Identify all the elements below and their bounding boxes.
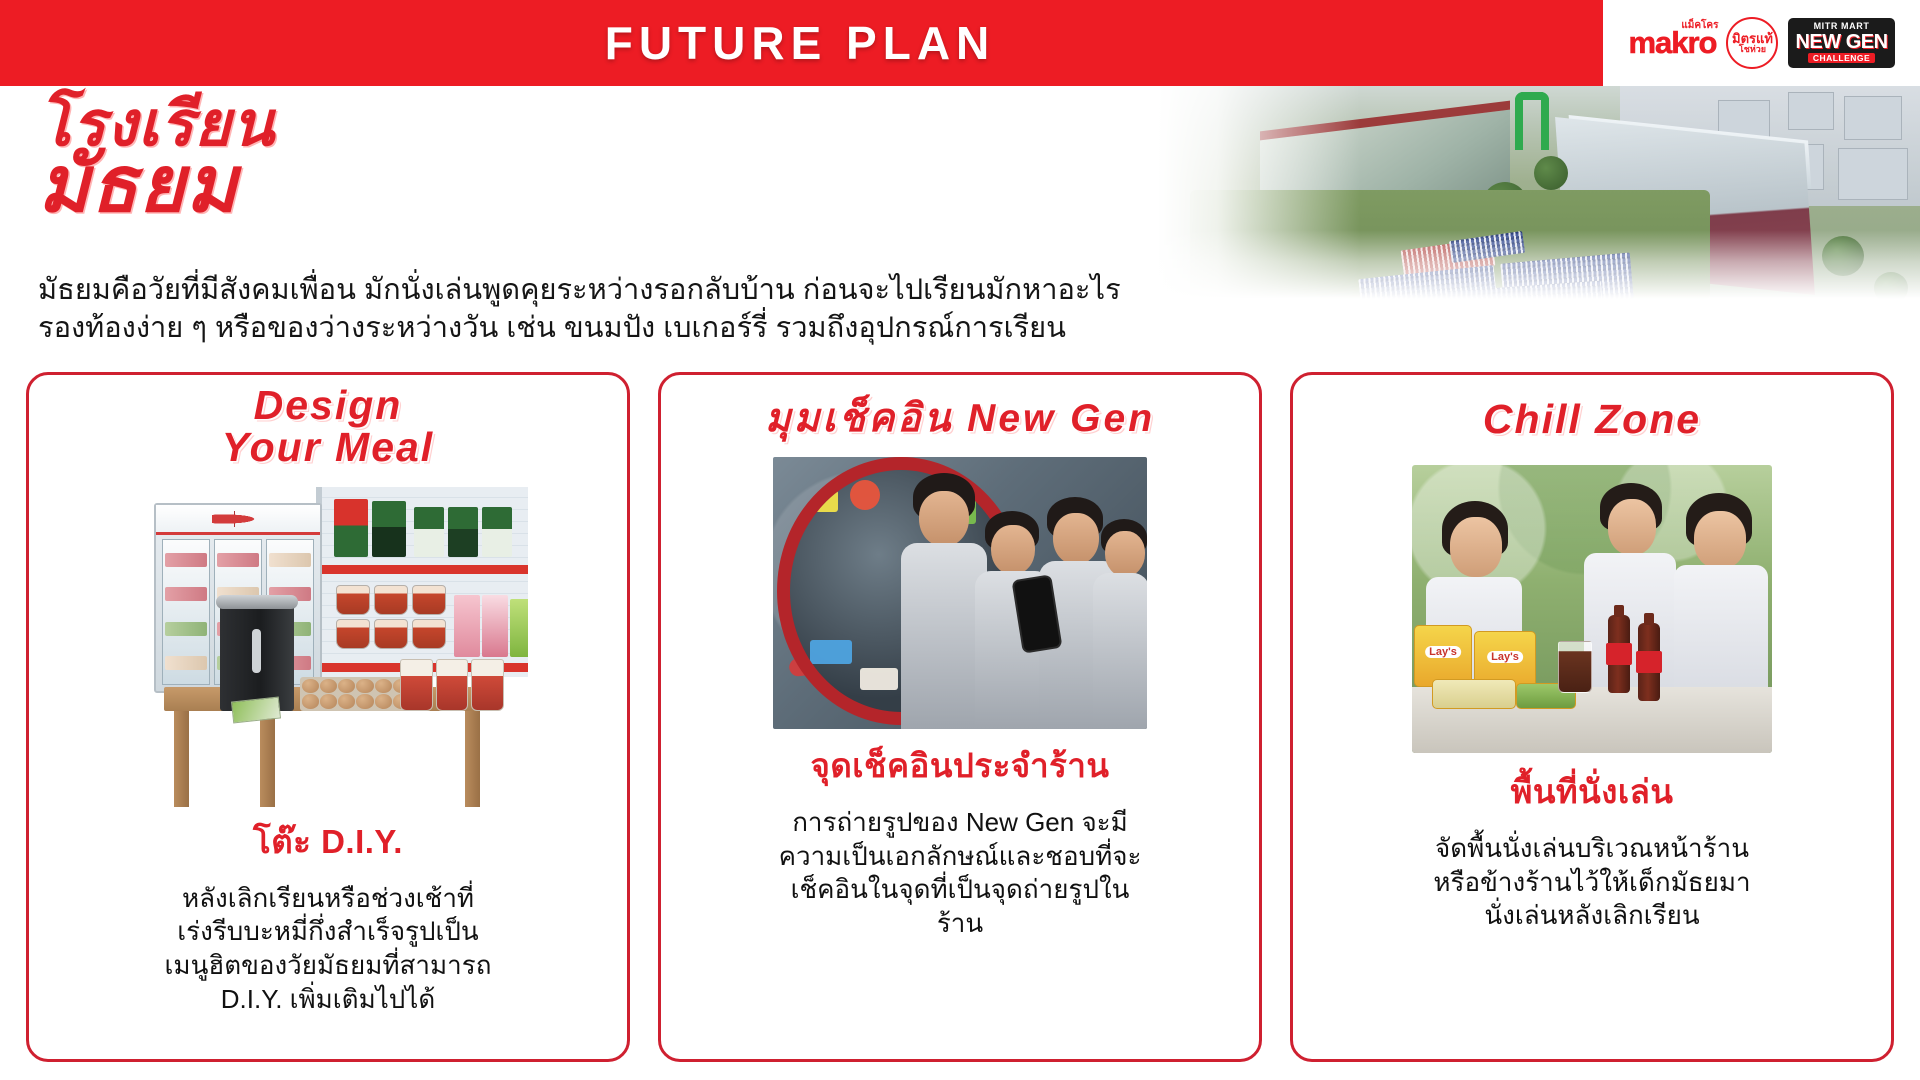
headline-line2: มัธยม: [38, 149, 275, 221]
ngc-bottom-label: CHALLENGE: [1808, 53, 1875, 64]
card-3-subtitle: พื้นที่นั่งเล่น: [1511, 765, 1674, 818]
ngc-top-label: MITR MART: [1814, 22, 1870, 31]
chips-brand-label-2: Lay's: [1487, 651, 1523, 663]
card-checkin-corner[interactable]: มุมเช็คอิน New Gen: [658, 372, 1262, 1062]
card-3-title: Chill Zone: [1483, 399, 1701, 441]
new-gen-challenge-badge: MITR MART NEW GEN CHALLENGE: [1788, 18, 1894, 69]
page-title: FUTURE PLAN: [0, 0, 1600, 86]
top-banner: FUTURE PLAN makro แม็คโคร มิตรแท้ โชห่วย…: [0, 0, 1920, 86]
card-row: Design Your Meal: [26, 372, 1894, 1062]
diy-noodle-table-photo: [128, 477, 528, 807]
lead-paragraph: มัธยมคือวัยที่มีสังคมเพื่อน มักนั่งเล่นพ…: [38, 272, 1378, 347]
card-design-your-meal[interactable]: Design Your Meal: [26, 372, 630, 1062]
aerial-school-assembly-photo: [1130, 86, 1920, 300]
seal-line2: โชห่วย: [1739, 45, 1766, 54]
makro-logo: makro แม็คโคร: [1628, 29, 1716, 57]
card-1-body: หลังเลิกเรียนหรือช่วงเช้าที่ เร่งรีบบะหม…: [165, 882, 492, 1017]
chips-brand-label: Lay's: [1425, 646, 1461, 658]
card-chill-zone[interactable]: Chill Zone: [1290, 372, 1894, 1062]
card-1-title: Design Your Meal: [222, 385, 434, 469]
headline: โรงเรียน มัธยม: [38, 96, 275, 221]
lead-line1: มัธยมคือวัยที่มีสังคมเพื่อน มักนั่งเล่นพ…: [38, 272, 1378, 310]
graffiti-mirror-selfie-photo: [773, 457, 1147, 729]
makro-thai-subtitle: แม็คโคร: [1681, 18, 1718, 33]
ngc-mid-label: NEW GEN: [1795, 32, 1887, 52]
card-2-body: การถ่ายรูปของ New Gen จะมี ความเป็นเอกลั…: [779, 806, 1142, 941]
card-2-subtitle: จุดเช็คอินประจำร้าน: [811, 739, 1110, 792]
card-2-title: มุมเช็คอิน New Gen: [765, 399, 1155, 439]
mitrtae-seal-icon: มิตรแท้ โชห่วย: [1726, 17, 1778, 69]
students-snacks-outdoor-photo: Lay's Lay's: [1412, 465, 1772, 753]
logo-plate: makro แม็คโคร มิตรแท้ โชห่วย MITR MART N…: [1600, 0, 1920, 86]
lead-line2: รองท้องง่าย ๆ หรือของว่างระหว่างวัน เช่น…: [38, 310, 1378, 348]
card-3-body: จัดพื้นนั่งเล่นบริเวณหน้าร้าน หรือข้างร้…: [1433, 832, 1750, 933]
card-1-subtitle: โต๊ะ D.I.Y.: [253, 815, 403, 868]
makro-wordmark: makro: [1628, 29, 1716, 57]
slide-root: FUTURE PLAN makro แม็คโคร มิตรแท้ โชห่วย…: [0, 0, 1920, 1080]
